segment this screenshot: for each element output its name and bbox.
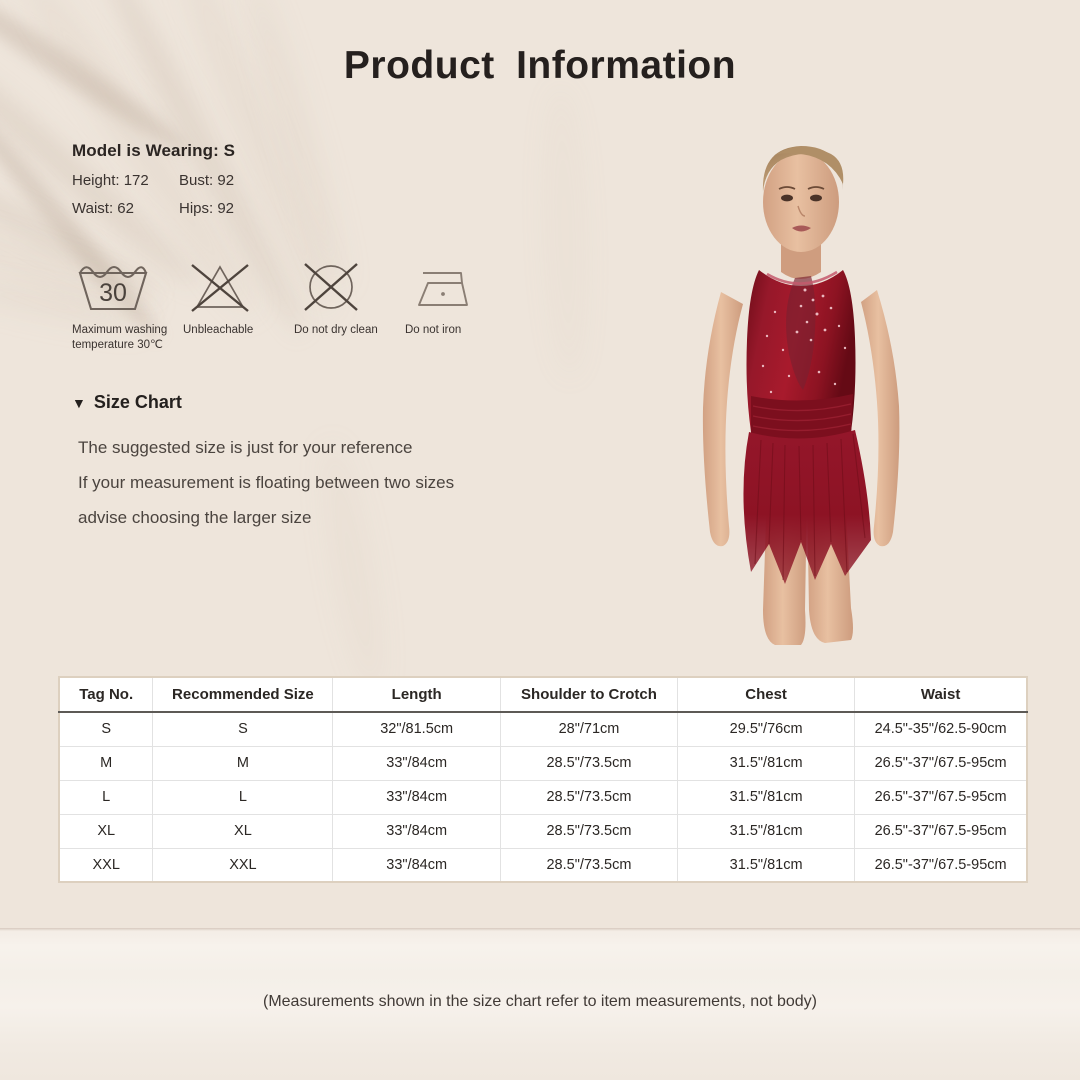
size-chart-heading: ▼ Size Chart: [72, 392, 182, 413]
table-header-cell: Recommended Size: [153, 677, 333, 712]
model-info-block: Model is Wearing: S Height: 172 Bust: 92…: [72, 141, 235, 217]
care-label-wash: Maximum washing temperature 30℃: [72, 323, 183, 352]
model-height: Height: 172: [72, 172, 179, 189]
table-cell: M: [153, 746, 333, 780]
table-cell: 29.5"/76cm: [678, 712, 855, 746]
table-header-cell: Tag No.: [59, 677, 153, 712]
product-model-photo: [655, 140, 945, 660]
size-chart-heading-label: Size Chart: [94, 392, 182, 413]
size-chart-table-wrapper: Tag No. Recommended Size Length Shoulder…: [58, 676, 1028, 883]
table-cell: XXL: [153, 848, 333, 882]
table-cell: XXL: [59, 848, 153, 882]
no-iron-icon: [405, 258, 516, 316]
table-cell: 31.5"/81cm: [678, 746, 855, 780]
size-note-line: If your measurement is floating between …: [78, 465, 454, 500]
table-row: S S 32"/81.5cm 28"/71cm 29.5"/76cm 24.5"…: [59, 712, 1027, 746]
table-row: M M 33"/84cm 28.5"/73.5cm 31.5"/81cm 26.…: [59, 746, 1027, 780]
table-header-cell: Length: [333, 677, 500, 712]
palm-shadow-blade: [538, 81, 592, 382]
care-label-bleach: Unbleachable: [183, 323, 294, 338]
table-cell: 28"/71cm: [500, 712, 677, 746]
table-cell: 31.5"/81cm: [678, 848, 855, 882]
table-cell: 24.5"-35"/62.5-90cm: [855, 712, 1027, 746]
table-row: XL XL 33"/84cm 28.5"/73.5cm 31.5"/81cm 2…: [59, 814, 1027, 848]
table-cell: 33"/84cm: [333, 848, 500, 882]
care-symbols-group: 30 Maximum washing temperature 30℃ Unble…: [72, 258, 516, 352]
table-header-cell: Shoulder to Crotch: [500, 677, 677, 712]
model-bust: Bust: 92: [179, 172, 234, 189]
page-title: Product Information: [0, 44, 1080, 88]
table-header-cell: Waist: [855, 677, 1027, 712]
size-note-line: advise choosing the larger size: [78, 500, 454, 535]
table-cell: 26.5"-37"/67.5-95cm: [855, 780, 1027, 814]
care-item-bleach: Unbleachable: [183, 258, 294, 338]
model-measurement-row: Waist: 62 Hips: 92: [72, 200, 235, 217]
table-cell: 31.5"/81cm: [678, 814, 855, 848]
table-row: XXL XXL 33"/84cm 28.5"/73.5cm 31.5"/81cm…: [59, 848, 1027, 882]
table-cell: 31.5"/81cm: [678, 780, 855, 814]
wash-temperature-value: 30: [99, 279, 127, 307]
table-cell: 33"/84cm: [333, 814, 500, 848]
no-bleach-icon: [183, 258, 294, 316]
caret-down-icon: ▼: [72, 396, 86, 410]
table-cell: 28.5"/73.5cm: [500, 848, 677, 882]
size-chart-table: Tag No. Recommended Size Length Shoulder…: [58, 676, 1028, 883]
model-measurement-row: Height: 172 Bust: 92: [72, 172, 235, 189]
table-cell: 33"/84cm: [333, 746, 500, 780]
table-cell: 28.5"/73.5cm: [500, 746, 677, 780]
table-cell: L: [59, 780, 153, 814]
table-cell: 26.5"-37"/67.5-95cm: [855, 746, 1027, 780]
table-cell: 32"/81.5cm: [333, 712, 500, 746]
table-cell: S: [153, 712, 333, 746]
table-cell: 28.5"/73.5cm: [500, 814, 677, 848]
size-chart-footnote: (Measurements shown in the size chart re…: [0, 993, 1080, 1011]
care-item-iron: Do not iron: [405, 258, 516, 338]
table-cell: 33"/84cm: [333, 780, 500, 814]
table-cell: 28.5"/73.5cm: [500, 780, 677, 814]
table-cell: XL: [153, 814, 333, 848]
care-item-dry-clean: Do not dry clean: [294, 258, 405, 338]
no-dry-clean-icon: [294, 258, 405, 316]
table-cell: L: [153, 780, 333, 814]
table-cell: M: [59, 746, 153, 780]
table-cell: XL: [59, 814, 153, 848]
care-label-dry-clean: Do not dry clean: [294, 323, 405, 338]
table-cell: 26.5"-37"/67.5-95cm: [855, 848, 1027, 882]
table-header-row: Tag No. Recommended Size Length Shoulder…: [59, 677, 1027, 712]
care-label-iron: Do not iron: [405, 323, 516, 338]
table-row: L L 33"/84cm 28.5"/73.5cm 31.5"/81cm 26.…: [59, 780, 1027, 814]
wash-tub-30-icon: 30: [72, 258, 183, 316]
size-chart-notes: The suggested size is just for your refe…: [78, 430, 454, 535]
table-cell: S: [59, 712, 153, 746]
model-hips: Hips: 92: [179, 200, 234, 217]
size-note-line: The suggested size is just for your refe…: [78, 430, 454, 465]
model-waist: Waist: 62: [72, 200, 179, 217]
table-header-cell: Chest: [678, 677, 855, 712]
table-cell: 26.5"-37"/67.5-95cm: [855, 814, 1027, 848]
care-item-wash: 30 Maximum washing temperature 30℃: [72, 258, 183, 352]
model-wearing-heading: Model is Wearing: S: [72, 141, 235, 161]
